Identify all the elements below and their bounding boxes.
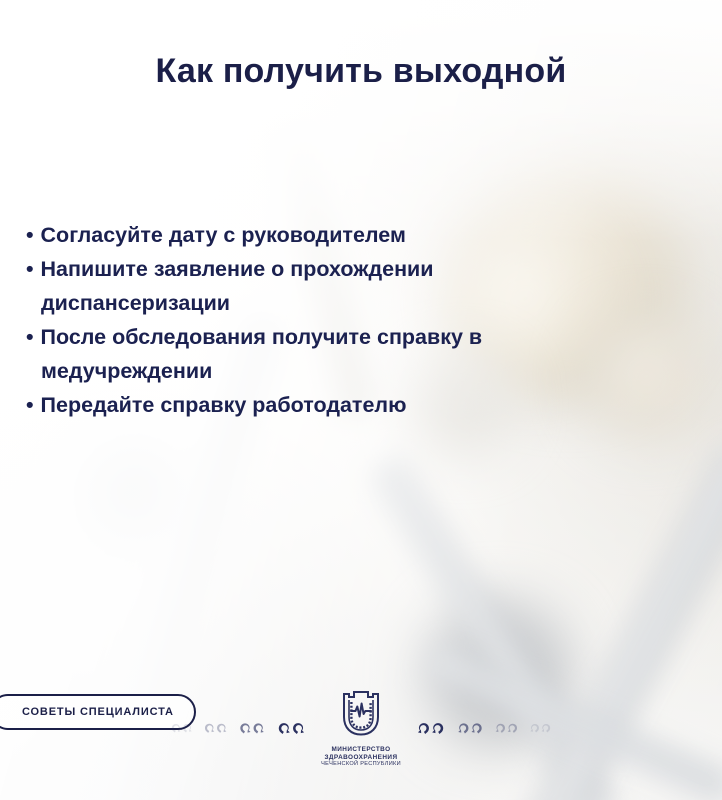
chechen-ornament-icon — [526, 716, 552, 738]
ministry-line-1: МИНИСТЕРСТВО — [321, 746, 401, 754]
page-title: Как получить выходной — [0, 52, 722, 91]
chechen-ornament-icon — [276, 713, 310, 741]
chechen-ornament-icon — [170, 716, 196, 738]
ministry-line-3: ЧЕЧЕНСКОЙ РЕСПУБЛИКИ — [321, 761, 401, 768]
list-item: После обследования получите справку в ме… — [26, 320, 614, 388]
chechen-ornament-icon — [491, 715, 519, 739]
emblem-row: МИНИСТЕРСТВО ЗДРАВООХРАНЕНИЯ ЧЕЧЕНСКОЙ Р… — [0, 686, 722, 768]
list-item: Напишите заявление о прохождении диспанс… — [26, 252, 614, 320]
list-item: Согласуйте дату с руководителем — [26, 218, 614, 252]
footer: СОВЕТЫ СПЕЦИАЛИСТА — [0, 680, 722, 800]
chechen-ornament-icon — [453, 714, 484, 740]
chechen-ornament-icon — [412, 713, 446, 741]
shield-heartbeat-icon — [338, 686, 384, 743]
poster-card: Как получить выходной Согласуйте дату с … — [0, 0, 722, 800]
chechen-ornament-icon — [238, 714, 269, 740]
ministry-line-2: ЗДРАВООХРАНЕНИЯ — [321, 754, 401, 762]
poster-content: Как получить выходной Согласуйте дату с … — [0, 0, 722, 800]
ministry-logo: МИНИСТЕРСТВО ЗДРАВООХРАНЕНИЯ ЧЕЧЕНСКОЙ Р… — [321, 686, 401, 768]
ministry-name: МИНИСТЕРСТВО ЗДРАВООХРАНЕНИЯ ЧЕЧЕНСКОЙ Р… — [321, 746, 401, 768]
advice-list: Согласуйте дату с руководителем Напишите… — [26, 218, 614, 422]
list-item: Передайте справку работодателю — [26, 388, 614, 422]
chechen-ornament-icon — [203, 715, 231, 739]
